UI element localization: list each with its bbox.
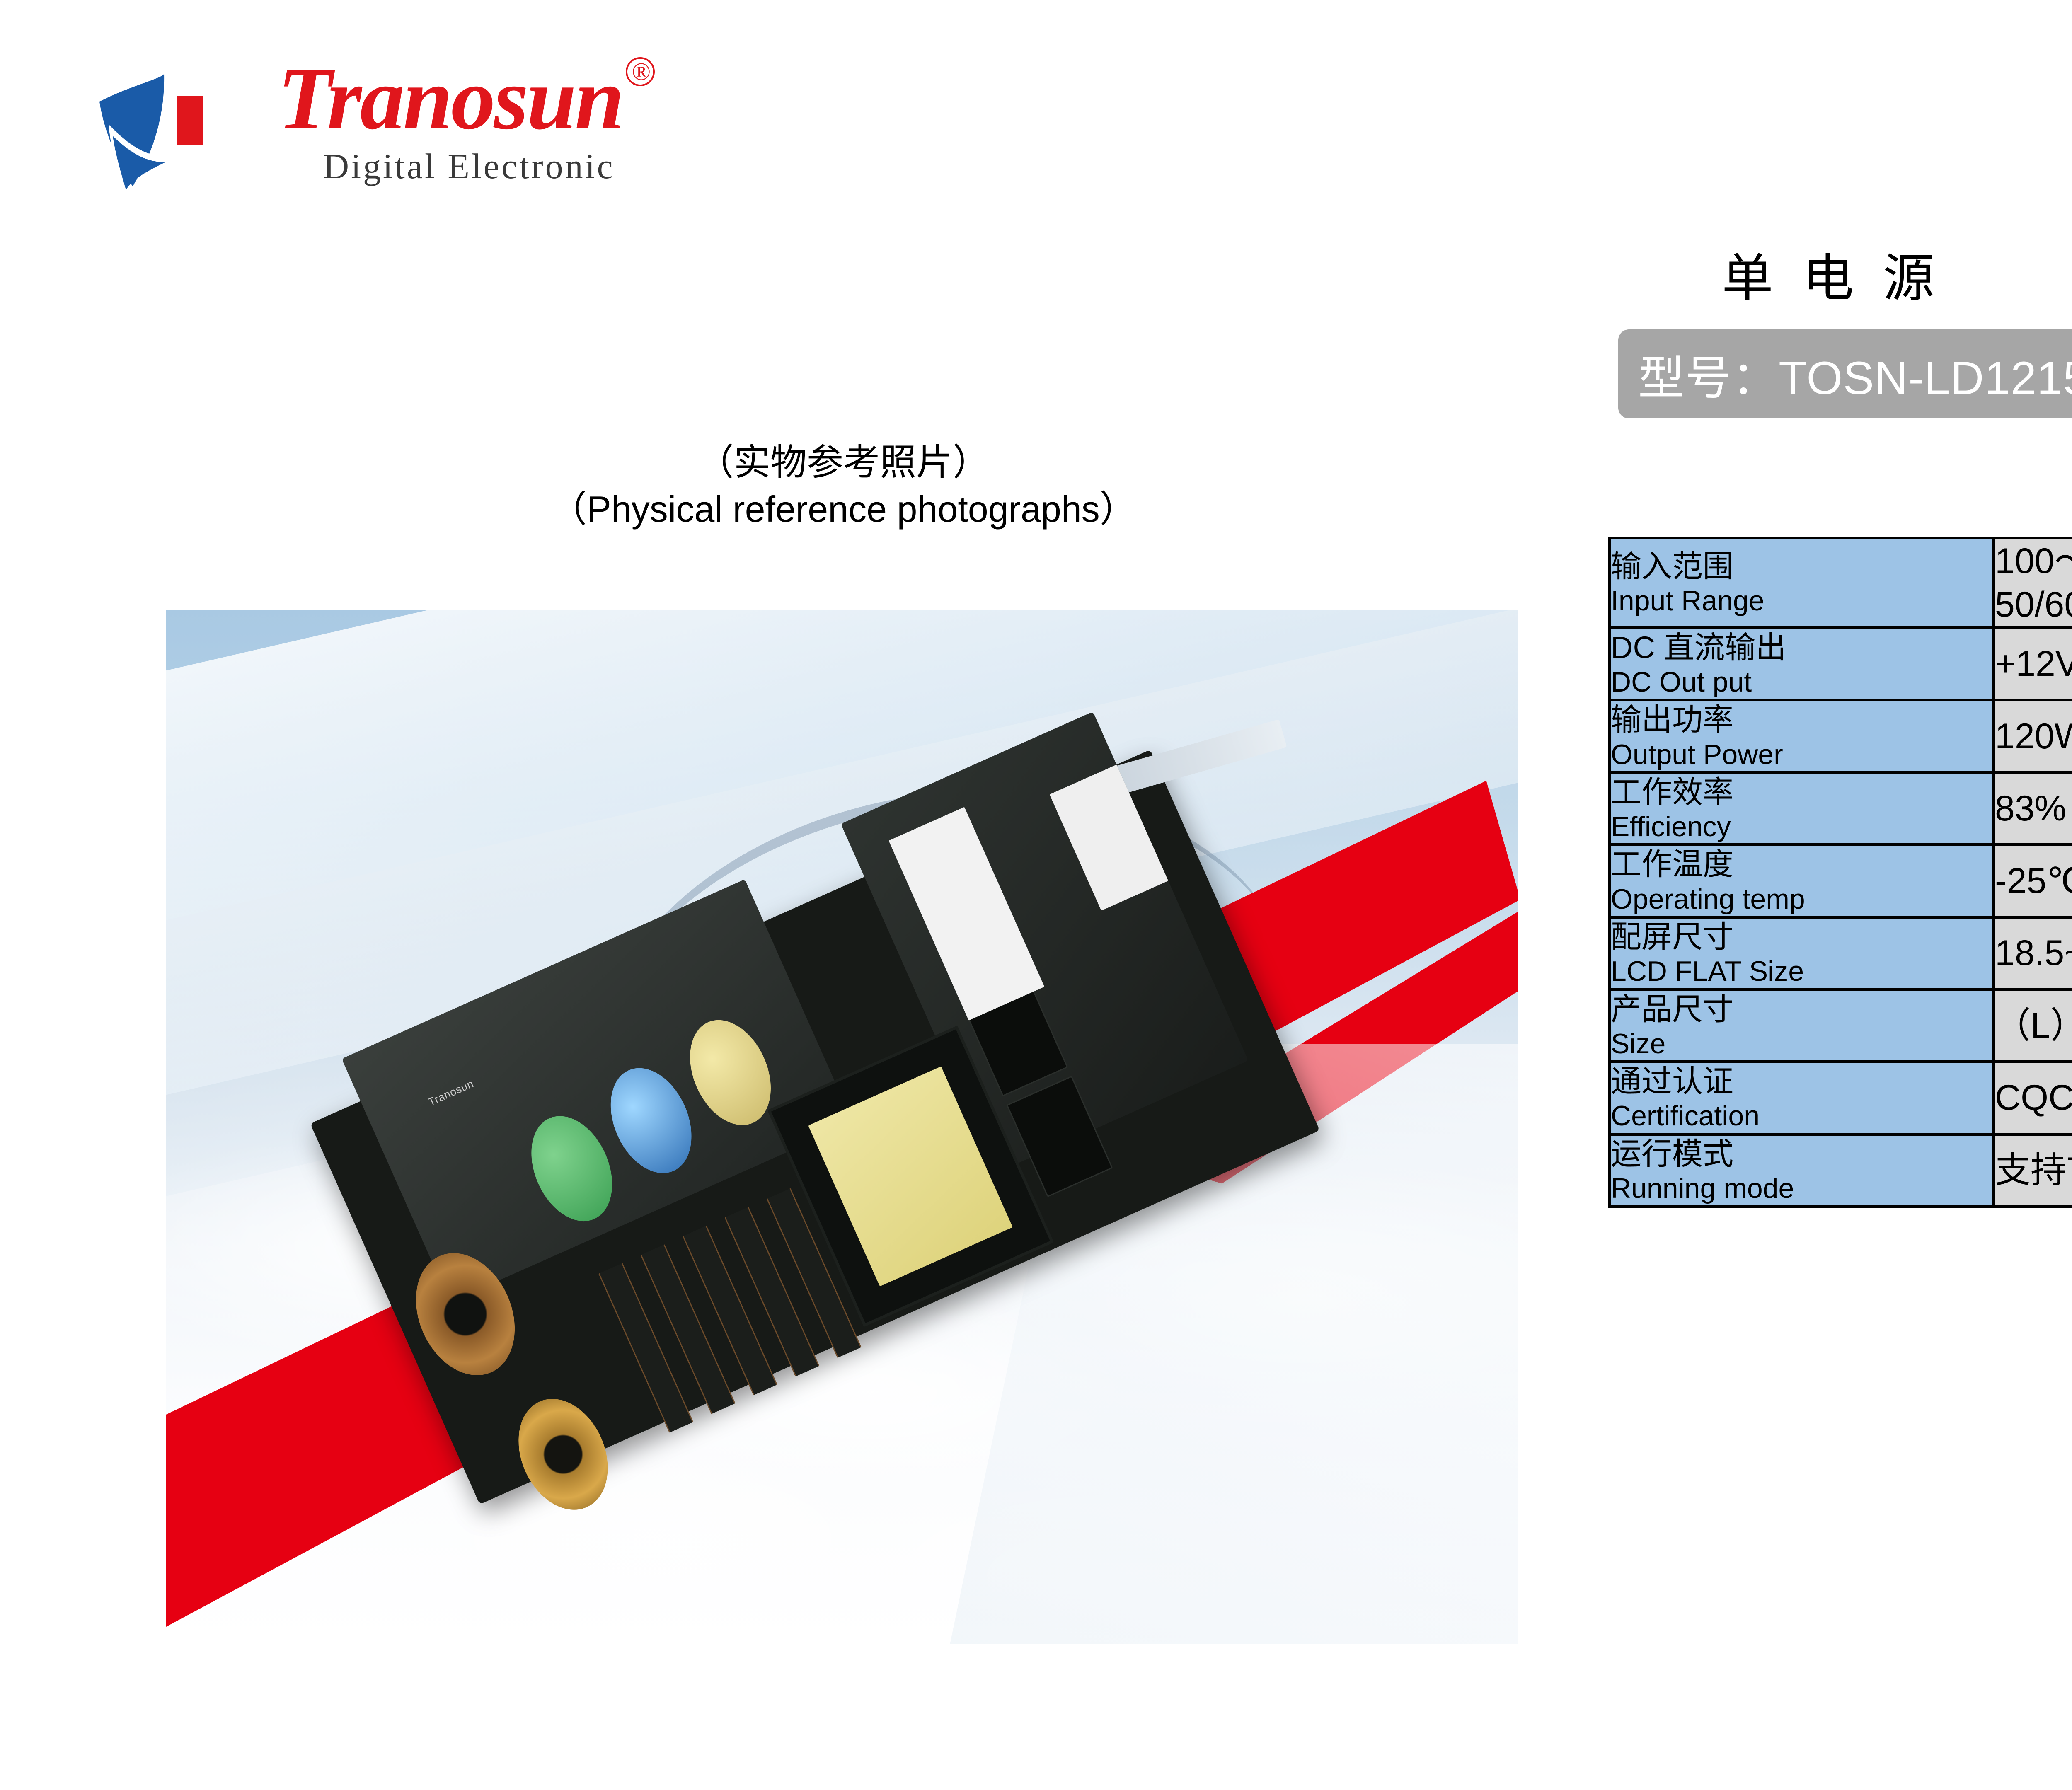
spec-label-en: Output Power [1611, 738, 1992, 771]
table-row: 运行模式 Running mode 支持7*24小时工作 [1610, 1134, 2072, 1207]
spec-value-cell: CQC、CE、RoHS [1994, 1062, 2072, 1134]
spec-label-cell: 输入范围 Input Range [1610, 538, 1994, 628]
specification-table: 输入范围 Input Range 100～240Vac(Range:90～264… [1608, 537, 2072, 1208]
spec-value-cell: 18.5~32 Inch [1994, 917, 2072, 990]
spec-value-line-1: -25℃ ~+70℃ [1995, 859, 2072, 903]
spec-label-cell: 工作温度 Operating temp [1610, 845, 1994, 917]
photo-caption-cn: （实物参考照片） [166, 439, 1521, 486]
spec-value-line-1: 100～240Vac(Range:90～264Vac) [1995, 539, 2072, 583]
page-title: 单 电 源 [1722, 236, 1942, 311]
brand-logo: Tranosun ® Digital Electronic [83, 54, 995, 220]
spec-value-cell: （L）180*(W)85*(H)13mm [1994, 989, 2072, 1062]
spec-value-line-2: 50/60Hz [1995, 583, 2072, 626]
spec-label-cn: DC 直流输出 [1611, 629, 1992, 665]
spec-label-cn: 工作温度 [1611, 846, 1992, 882]
spec-label-cell: 输出功率 Output Power [1610, 700, 1994, 773]
spec-label-cell: 产品尺寸 Size [1610, 989, 1994, 1062]
spec-label-en: Size [1611, 1027, 1992, 1060]
table-row: 工作温度 Operating temp -25℃ ~+70℃ [1610, 845, 2072, 917]
table-row: 输入范围 Input Range 100～240Vac(Range:90～264… [1610, 538, 2072, 628]
spec-label-cell: DC 直流输出 DC Out put [1610, 628, 1994, 700]
logo-tagline: Digital Electronic [278, 145, 982, 187]
spec-value-cell: 83% ~ 85% [1994, 772, 2072, 845]
spec-value-cell: 120W [1994, 700, 2072, 773]
product-photo: Tranosun [166, 610, 1518, 1644]
photo-caption: （实物参考照片） （Physical reference photographs… [166, 439, 1521, 532]
spec-value-cell: -25℃ ~+70℃ [1994, 845, 2072, 917]
spec-label-en: Efficiency [1611, 810, 1992, 843]
pcb-silk-brand-top: Tranosun [426, 1077, 475, 1108]
spec-label-cell: 配屏尺寸 LCD FLAT Size [1610, 917, 1994, 990]
table-row: 输出功率 Output Power 120W [1610, 700, 2072, 773]
photo-caption-en: （Physical reference photographs） [166, 486, 1521, 533]
spec-label-en: Input Range [1611, 584, 1992, 617]
spec-label-en: Running mode [1611, 1172, 1992, 1205]
pcb-transformer-core [808, 1066, 1013, 1286]
spec-value-line-1: +12V/10.0A [1995, 642, 2072, 686]
spec-value-line-1: （L）180*(W)85*(H)13mm [1995, 1004, 2072, 1047]
model-number-text: 型号：TOSN-LD1215P [1638, 341, 2072, 408]
spec-label-en: LCD FLAT Size [1611, 955, 1992, 988]
spec-label-cn: 输入范围 [1611, 548, 1992, 584]
spec-label-cn: 工作效率 [1611, 774, 1992, 810]
logo-wordmark-text: Tranosun [278, 49, 622, 148]
spec-value-line-1: 18.5~32 Inch [1995, 931, 2072, 975]
spec-value-line-1: 83% ~ 85% [1995, 787, 2072, 830]
specification-table-body: 输入范围 Input Range 100～240Vac(Range:90～264… [1610, 538, 2072, 1207]
spec-value-cell: 支持7*24小时工作 [1994, 1134, 2072, 1207]
model-number-badge: 型号：TOSN-LD1215P [1618, 329, 2072, 418]
spec-label-cell: 通过认证 Certification [1610, 1062, 1994, 1134]
table-row: 通过认证 Certification CQC、CE、RoHS [1610, 1062, 2072, 1134]
spec-value-cell: 100～240Vac(Range:90～264Vac) 50/60Hz [1994, 538, 2072, 628]
table-row: 产品尺寸 Size （L）180*(W)85*(H)13mm [1610, 989, 2072, 1062]
registered-trademark-icon: ® [626, 57, 655, 86]
table-row: DC 直流输出 DC Out put +12V/10.0A [1610, 628, 2072, 700]
spec-label-cn: 产品尺寸 [1611, 991, 1992, 1027]
spec-label-cn: 输出功率 [1611, 701, 1992, 738]
spec-label-cell: 运行模式 Running mode [1610, 1134, 1994, 1207]
spec-value-line-1: 支持7*24小时工作 [1995, 1149, 2072, 1192]
logo-wordmark: Tranosun ® [278, 54, 622, 143]
spec-value-line-1: CQC、CE、RoHS [1995, 1076, 2072, 1120]
spec-label-en: Operating temp [1611, 883, 1992, 916]
spec-label-cell: 工作效率 Efficiency [1610, 772, 1994, 845]
spec-value-line-1: 120W [1995, 715, 2072, 758]
spec-label-en: DC Out put [1611, 665, 1992, 699]
spec-label-cn: 通过认证 [1611, 1063, 1992, 1099]
spec-label-cn: 运行模式 [1611, 1136, 1992, 1172]
logo-bird-icon [83, 62, 261, 199]
spec-value-cell: +12V/10.0A [1994, 628, 2072, 700]
table-row: 工作效率 Efficiency 83% ~ 85% [1610, 772, 2072, 845]
table-row: 配屏尺寸 LCD FLAT Size 18.5~32 Inch [1610, 917, 2072, 990]
spec-label-en: Certification [1611, 1099, 1992, 1132]
spec-label-cn: 配屏尺寸 [1611, 919, 1992, 955]
